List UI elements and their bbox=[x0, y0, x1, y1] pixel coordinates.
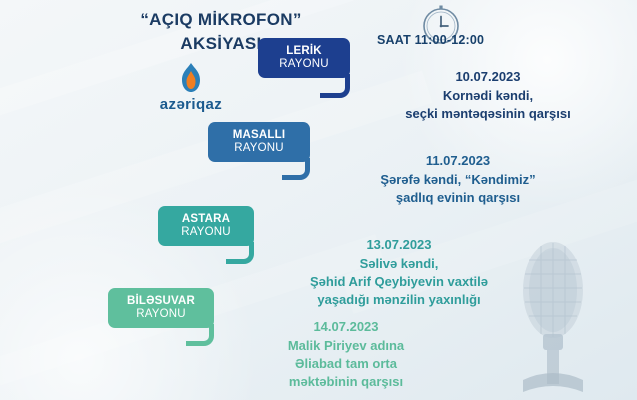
region-sub-3: RAYONU bbox=[168, 226, 244, 239]
region-sub-4: RAYONU bbox=[118, 308, 204, 321]
event-place-line-1: Malik Piriyev adına bbox=[206, 337, 486, 355]
event-place-line-2: Əliabad tam orta bbox=[206, 355, 486, 373]
time-label: SAAT 11:00-12:00 bbox=[377, 33, 484, 47]
event-entry-bilesuvar: 14.07.2023 Malik Piriyev adına Əliabad t… bbox=[206, 318, 486, 391]
region-badge-astara[interactable]: ASTARA RAYONU bbox=[158, 206, 254, 246]
event-date-4: 14.07.2023 bbox=[206, 318, 486, 336]
event-place-line-1: Səlivə kəndi, bbox=[254, 255, 544, 273]
event-place-line-2: seçki məntəqəsinin qarşısı bbox=[348, 105, 628, 123]
event-place-line-1: Şərəfə kəndi, “Kəndimiz” bbox=[308, 171, 608, 189]
connector-hook-astara bbox=[226, 242, 254, 264]
region-badge-lerik[interactable]: LERİK RAYONU bbox=[258, 38, 350, 78]
connector-hook-lerik bbox=[320, 74, 350, 98]
event-place-line-3: yaşadığı mənzilin yaxınlığı bbox=[254, 291, 544, 309]
event-entry-masalli: 11.07.2023 Şərəfə kəndi, “Kəndimiz” şadl… bbox=[308, 152, 608, 207]
region-name-3: ASTARA bbox=[182, 213, 230, 225]
region-name-1: LERİK bbox=[286, 45, 322, 57]
event-place-line-3: məktəbinin qarşısı bbox=[206, 373, 486, 391]
event-entry-lerik: 10.07.2023 Kornədi kəndi, seçki məntəqəs… bbox=[348, 68, 628, 123]
region-name-4: BİLƏSUVAR bbox=[127, 295, 195, 307]
brand-logo: azəriqaz bbox=[128, 62, 254, 113]
event-date-1: 10.07.2023 bbox=[348, 68, 628, 86]
connector-hook-masalli bbox=[282, 158, 310, 180]
event-place-line-1: Kornədi kəndi, bbox=[348, 87, 628, 105]
region-sub-1: RAYONU bbox=[268, 58, 340, 71]
brand-name: azəriqaz bbox=[128, 96, 254, 113]
poster-root: “AÇIQ MİKROFON” AKSİYASI azəriqaz SAAT 1… bbox=[0, 0, 637, 400]
headline-line-1: “AÇIQ MİKROFON” bbox=[96, 8, 346, 32]
event-entry-astara: 13.07.2023 Səlivə kəndi, Şəhid Arif Qeyb… bbox=[254, 236, 544, 309]
event-date-2: 11.07.2023 bbox=[308, 152, 608, 170]
flame-icon bbox=[178, 62, 204, 94]
region-sub-2: RAYONU bbox=[218, 142, 300, 155]
region-badge-masalli[interactable]: MASALLI RAYONU bbox=[208, 122, 310, 162]
event-place-line-2: şadlıq evinin qarşısı bbox=[308, 189, 608, 207]
event-place-line-2: Şəhid Arif Qeybiyevin vaxtilə bbox=[254, 273, 544, 291]
event-date-3: 13.07.2023 bbox=[254, 236, 544, 254]
region-name-2: MASALLI bbox=[233, 129, 286, 141]
region-badge-bilesuvar[interactable]: BİLƏSUVAR RAYONU bbox=[108, 288, 214, 328]
